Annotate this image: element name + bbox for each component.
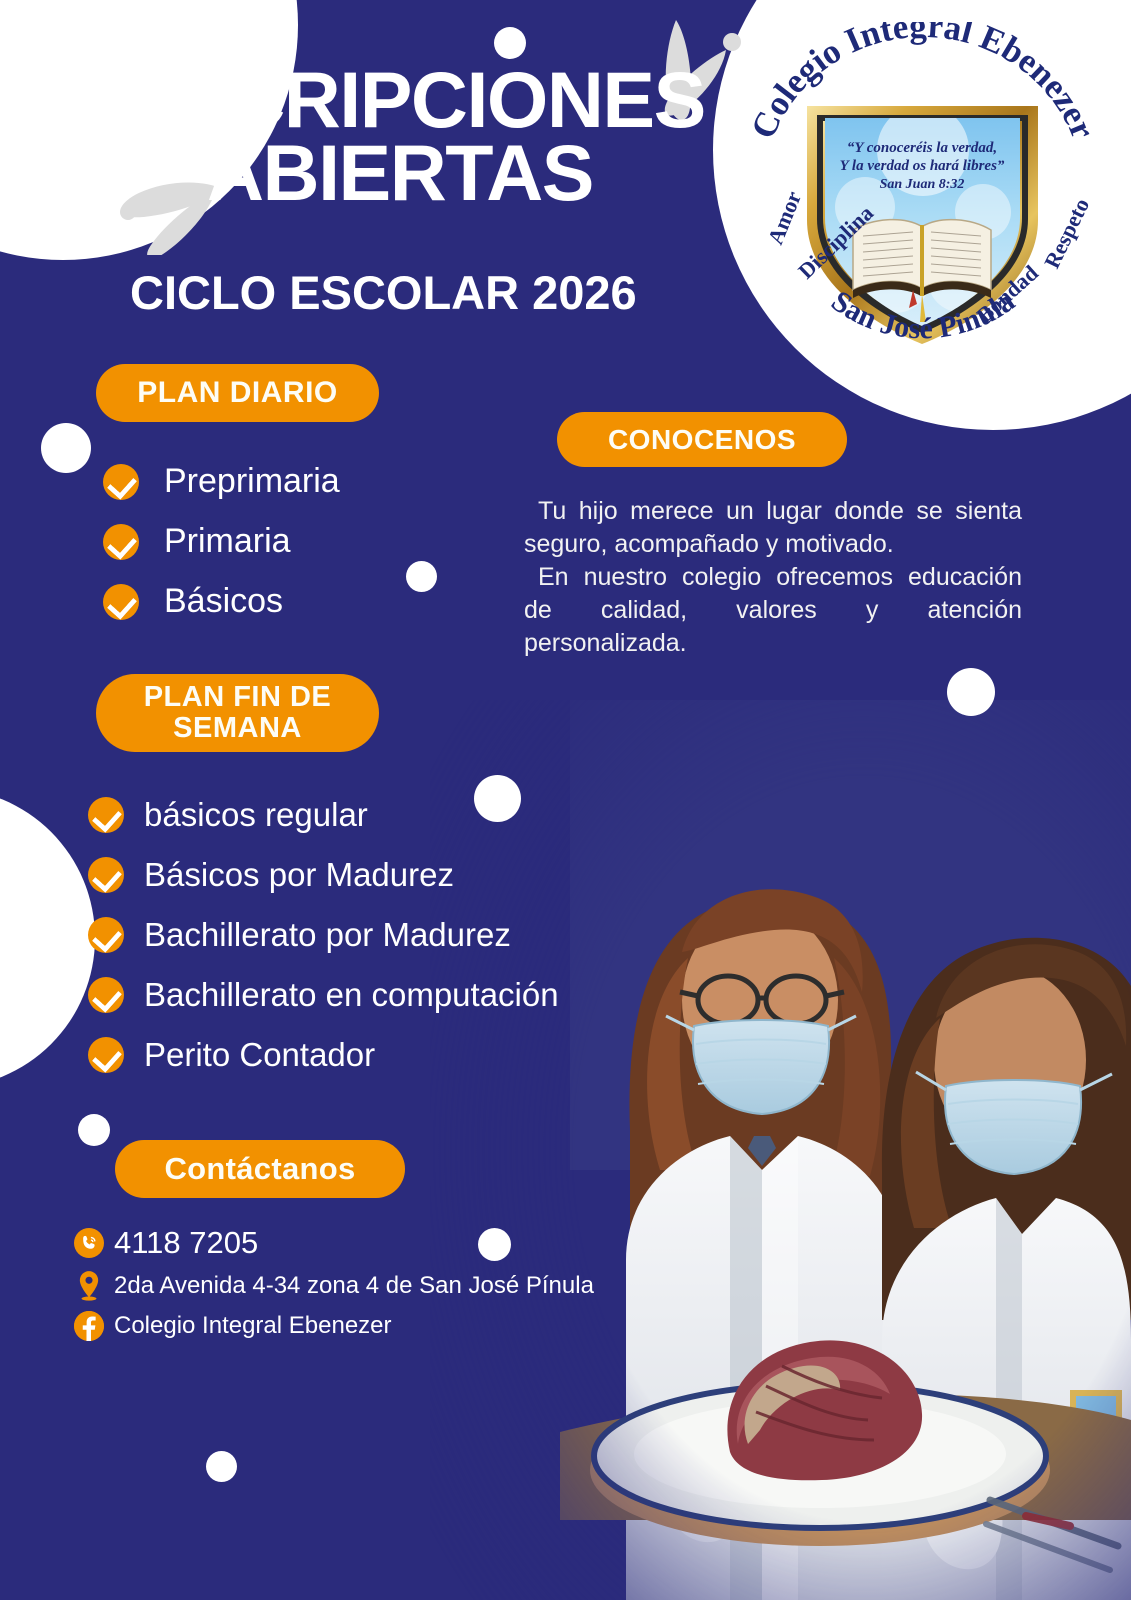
check-icon bbox=[103, 464, 139, 500]
decorative-dot bbox=[206, 1451, 237, 1482]
check-icon bbox=[88, 917, 124, 953]
list-item: Bachillerato en computación bbox=[88, 976, 559, 1014]
decorative-dot bbox=[78, 1114, 110, 1146]
check-icon bbox=[103, 584, 139, 620]
list-item-label: Bachillerato en computación bbox=[144, 976, 559, 1014]
check-icon bbox=[88, 857, 124, 893]
contact-phone-row[interactable]: 4118 7205 bbox=[74, 1225, 594, 1261]
logo-value-respeto: Respeto bbox=[1039, 194, 1094, 272]
decorative-dot bbox=[406, 561, 437, 592]
list-item: Básicos bbox=[103, 582, 340, 621]
contact-facebook-row[interactable]: Colegio Integral Ebenezer bbox=[74, 1311, 594, 1341]
logo-value-amor: Amor bbox=[762, 187, 806, 248]
check-icon bbox=[103, 524, 139, 560]
facebook-icon bbox=[74, 1311, 104, 1341]
plan-diario-list: Preprimaria Primaria Básicos bbox=[103, 462, 340, 642]
page-title: INSCRIPCIONES ABIERTAS bbox=[101, 63, 741, 210]
list-item: Preprimaria bbox=[103, 462, 340, 501]
plan-diario-title: PLAN DIARIO bbox=[96, 364, 379, 422]
list-item: Bachillerato por Madurez bbox=[88, 916, 559, 954]
decorative-dot bbox=[947, 668, 995, 716]
list-item-label: Preprimaria bbox=[164, 462, 340, 501]
list-item-label: Primaria bbox=[164, 522, 291, 561]
school-logo: Colegio Integral Ebenezer “Y conoceréis … bbox=[745, 22, 1100, 382]
flyer-poster: INSCRIPCIONES ABIERTAS CICLO ESCOLAR 202… bbox=[0, 0, 1131, 1600]
conocenos-paragraph-2: En nuestro colegio ofrecemos educación d… bbox=[524, 561, 1022, 660]
logo-verse-line-1: “Y conoceréis la verdad, bbox=[847, 140, 997, 156]
check-icon bbox=[88, 977, 124, 1013]
check-icon bbox=[88, 797, 124, 833]
list-item: básicos regular bbox=[88, 796, 559, 834]
decorative-dot bbox=[41, 423, 91, 473]
plan-fin-semana-title-line-1: PLAN FIN DE bbox=[144, 681, 332, 713]
conocenos-body: Tu hijo merece un lugar donde se sienta … bbox=[524, 495, 1022, 660]
list-item-label: Básicos por Madurez bbox=[144, 856, 454, 894]
list-item: Primaria bbox=[103, 522, 340, 561]
conocenos-paragraph-1: Tu hijo merece un lugar donde se sienta … bbox=[524, 495, 1022, 561]
logo-verse-line-2: Y la verdad os hará libres” bbox=[840, 158, 1005, 174]
list-item: Perito Contador bbox=[88, 1036, 559, 1074]
contact-info: 4118 7205 2da Avenida 4-34 zona 4 de San… bbox=[74, 1225, 594, 1351]
contact-address-row[interactable]: 2da Avenida 4-34 zona 4 de San José Pínu… bbox=[74, 1271, 594, 1301]
list-item-label: básicos regular bbox=[144, 796, 368, 834]
list-item-label: Perito Contador bbox=[144, 1036, 375, 1074]
contact-address-text: 2da Avenida 4-34 zona 4 de San José Pínu… bbox=[114, 1272, 594, 1300]
plan-fin-semana-title: PLAN FIN DE SEMANA bbox=[96, 674, 379, 752]
contact-phone-number: 4118 7205 bbox=[114, 1225, 258, 1261]
contact-facebook-name: Colegio Integral Ebenezer bbox=[114, 1312, 392, 1340]
list-item: Básicos por Madurez bbox=[88, 856, 559, 894]
conocenos-title: CONOCENOS bbox=[557, 412, 847, 467]
plan-fin-semana-list: básicos regular Básicos por Madurez Bach… bbox=[88, 796, 559, 1096]
phone-icon bbox=[74, 1228, 104, 1258]
decorative-circle-left bbox=[0, 788, 95, 1088]
contact-title: Contáctanos bbox=[115, 1140, 405, 1198]
check-icon bbox=[88, 1037, 124, 1073]
headline-line-2: ABIERTAS bbox=[101, 136, 741, 209]
subtitle-school-year: CICLO ESCOLAR 2026 bbox=[130, 265, 637, 320]
logo-verse-reference: San Juan 8:32 bbox=[880, 177, 965, 192]
list-item-label: Básicos bbox=[164, 582, 283, 621]
location-pin-icon bbox=[74, 1271, 104, 1301]
list-item-label: Bachillerato por Madurez bbox=[144, 916, 511, 954]
plan-fin-semana-title-line-2: SEMANA bbox=[173, 712, 302, 744]
